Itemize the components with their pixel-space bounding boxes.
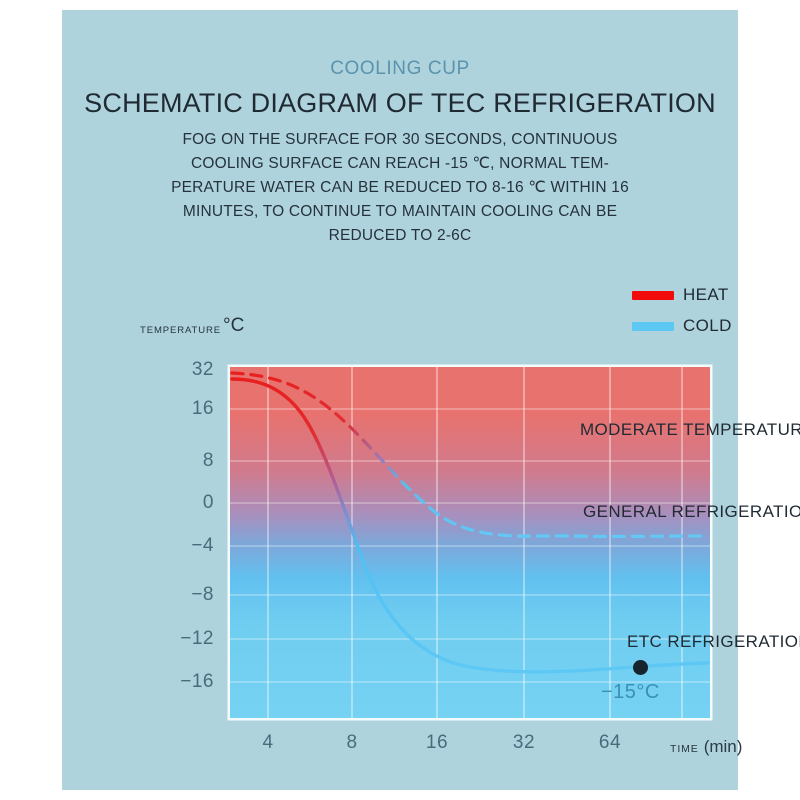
legend-item-heat: HEAT	[632, 282, 742, 308]
description-line-2: COOLING SURFACE CAN REACH -15 ℃, NORMAL …	[140, 152, 660, 176]
y-tick-label: 16	[154, 398, 214, 420]
poster-page: COOLING CUP SCHEMATIC DIAGRAM OF TEC REF…	[0, 0, 800, 800]
annotation-minus-15-celsius: −15°C	[601, 681, 660, 704]
description-line-4: MINUTES, TO CONTINUE TO MAINTAIN COOLING…	[140, 200, 660, 224]
description-line-5: REDUCED TO 2-6C	[140, 224, 660, 248]
annotation-general-refrigeration: GENERAL REFRIGERATION	[583, 502, 800, 522]
legend-swatch-heat-icon	[632, 291, 674, 300]
y-tick-label: −8	[154, 584, 214, 606]
y-axis-unit: °C	[223, 316, 244, 335]
x-tick-label: 64	[599, 732, 621, 754]
poster-panel: COOLING CUP SCHEMATIC DIAGRAM OF TEC REF…	[62, 10, 738, 790]
x-tick-label: 32	[513, 732, 535, 754]
annotation-etc-refrigeration: ETC REFRIGERATION	[627, 632, 800, 652]
legend-label-heat: HEAT	[683, 285, 729, 305]
description-line-3: PERATURE WATER CAN BE REDUCED TO 8-16 ℃ …	[140, 176, 660, 200]
etc-refrigeration-marker-dot	[633, 660, 648, 675]
annotation-moderate-temperature: MODERATE TEMPERATURE	[580, 420, 800, 440]
chart-legend: HEAT COLD	[632, 282, 742, 344]
legend-label-cold: COLD	[683, 316, 732, 336]
y-tick-label: −16	[154, 671, 214, 693]
y-tick-label: −4	[154, 535, 214, 557]
legend-item-cold: COLD	[632, 313, 742, 339]
y-tick-label: 8	[154, 450, 214, 472]
x-tick-label: 16	[426, 732, 448, 754]
x-axis-tick-labels: 48163264	[62, 732, 738, 762]
x-tick-label: 8	[346, 732, 357, 754]
legend-swatch-cold-icon	[632, 322, 674, 331]
x-tick-label: 4	[262, 732, 273, 754]
y-axis-tick-labels: 321680−4−8−12−16	[154, 10, 214, 790]
description-line-1: FOG ON THE SURFACE FOR 30 SECONDS, CONTI…	[140, 128, 660, 152]
y-tick-label: 0	[154, 492, 214, 514]
y-tick-label: −12	[154, 628, 214, 650]
y-tick-label: 32	[154, 359, 214, 381]
